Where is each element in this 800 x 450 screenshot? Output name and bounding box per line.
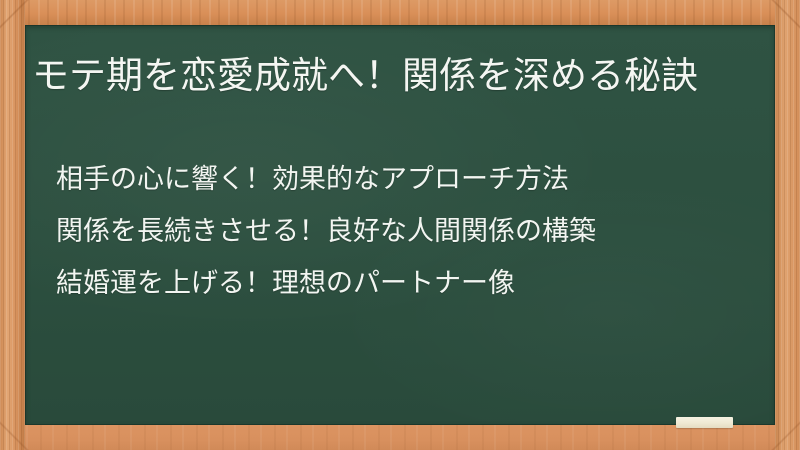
frame-top-rail [0, 0, 800, 25]
frame-bottom-tray [0, 425, 800, 450]
bullet-list: 相手の心に響く！効果的なアプローチ方法 関係を長続きさせる！良好な人間関係の構築… [56, 153, 756, 309]
list-item: 結婚運を上げる！理想のパートナー像 [56, 257, 756, 309]
chalk-stick-icon [676, 417, 733, 428]
list-item: 関係を長続きさせる！良好な人間関係の構築 [56, 205, 756, 257]
chalkboard-surface: モテ期を恋愛成就へ！関係を深める秘訣 相手の心に響く！効果的なアプローチ方法 関… [25, 25, 775, 425]
chalkboard-slide: モテ期を恋愛成就へ！関係を深める秘訣 相手の心に響く！効果的なアプローチ方法 関… [0, 0, 800, 450]
frame-right-rail [775, 0, 800, 450]
frame-left-rail [0, 0, 25, 450]
slide-title: モテ期を恋愛成就へ！関係を深める秘訣 [32, 52, 748, 100]
list-item: 相手の心に響く！効果的なアプローチ方法 [56, 153, 756, 205]
